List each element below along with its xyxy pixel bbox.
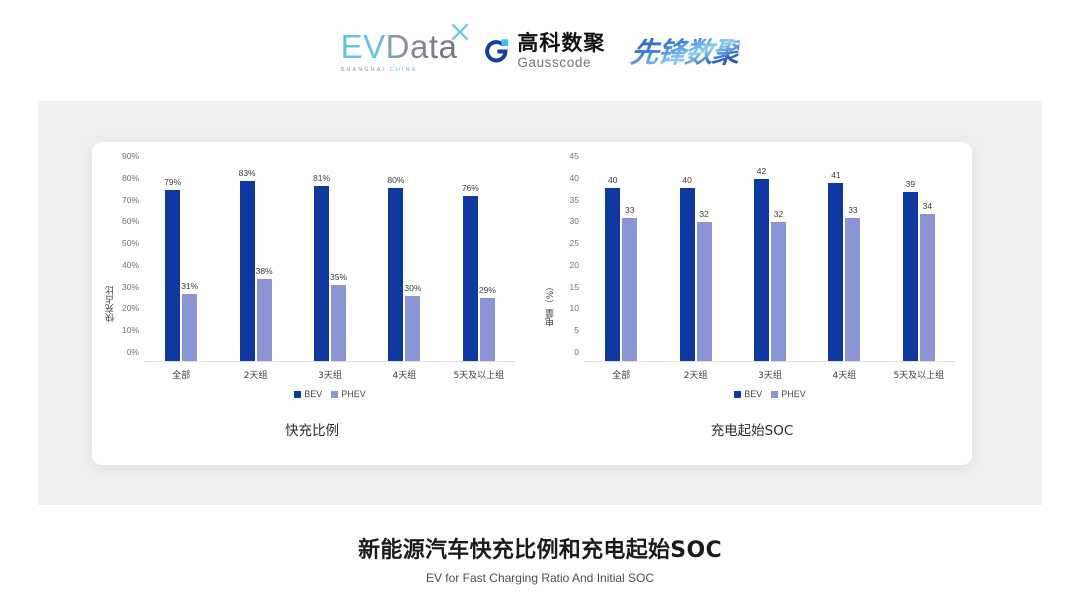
chart-initial-soc: 电量（%） 051015202530354045 403340324232413… <box>532 142 972 465</box>
legend-item-bev[interactable]: BEV <box>734 389 762 399</box>
bar-value-label: 42 <box>757 166 766 176</box>
y-axis-tick: 15 <box>570 282 579 292</box>
bar-bev[interactable]: 81% <box>314 186 329 362</box>
bar-group: 3934 <box>882 166 956 361</box>
bar-value-label: 31% <box>181 281 198 291</box>
bar-phev[interactable]: 32 <box>771 222 786 361</box>
xianfeng-logo: 先锋数聚 <box>629 31 741 71</box>
legend-item-bev[interactable]: BEV <box>294 389 322 399</box>
bar-value-label: 80% <box>387 175 404 185</box>
chart-legend: BEVPHEV <box>144 389 516 399</box>
y-axis-tick: 80% <box>122 173 139 183</box>
bar-bev[interactable]: 40 <box>680 188 695 361</box>
evdata-tagline-city: SHANGHAI <box>341 67 387 73</box>
bar-group: 79%31% <box>144 166 218 361</box>
x-axis-tick-label: 3天组 <box>733 368 807 381</box>
chart-title: 充电起始SOC <box>532 419 972 439</box>
bar-phev[interactable]: 33 <box>845 218 860 361</box>
bar-value-label: 76% <box>462 183 479 193</box>
bar-value-label: 79% <box>164 177 181 187</box>
bar-bev[interactable]: 40 <box>605 188 620 361</box>
y-axis-tick: 45 <box>570 151 579 161</box>
bar-value-label: 83% <box>239 168 256 178</box>
bar-value-label: 29% <box>479 285 496 295</box>
bar-value-label: 33 <box>848 205 857 215</box>
evdata-tagline-country: CHINA <box>390 67 418 73</box>
plot-area: 0%10%20%30%40%50%60%70%80%90% 79%31%83%3… <box>144 166 516 362</box>
x-axis-tick-label: 2天组 <box>658 368 732 381</box>
footer: 新能源汽车快充比例和充电起始SOC EV for Fast Charging R… <box>0 532 1080 585</box>
y-axis-label: 电量（%） <box>544 281 557 326</box>
y-axis-tick: 25 <box>570 238 579 248</box>
evdata-wordmark-ev: EV <box>341 28 386 65</box>
gausscode-name-cn: 高科数聚 <box>517 33 605 54</box>
gausscode-name-en: Gausscode <box>517 56 605 70</box>
evdata-wordmark-data: Data <box>386 28 458 65</box>
bar-bev[interactable]: 39 <box>903 192 918 361</box>
bar-phev[interactable]: 32 <box>697 222 712 361</box>
legend-swatch <box>771 391 778 398</box>
bar-value-label: 33 <box>625 205 634 215</box>
legend-label: BEV <box>304 389 322 399</box>
bar-value-label: 32 <box>774 209 783 219</box>
bar-group: 80%30% <box>367 166 441 361</box>
legend-swatch <box>734 391 741 398</box>
x-axis-tick-label: 4天组 <box>807 368 881 381</box>
bar-group: 4032 <box>658 166 732 361</box>
bar-phev[interactable]: 31% <box>182 294 197 361</box>
slide-page: EVData SHANGHAI CHINA 高科数聚 Gausscode 先锋数… <box>0 0 1080 608</box>
bar-groups: 40334032423241333934 <box>584 166 956 361</box>
x-axis-tick-label: 5天及以上组 <box>442 368 516 381</box>
bar-bev[interactable]: 42 <box>754 179 769 361</box>
y-axis-tick: 90% <box>122 151 139 161</box>
x-axis-tick-label: 全部 <box>584 368 658 381</box>
evdata-logo: EVData SHANGHAI CHINA <box>341 30 458 73</box>
legend-label: PHEV <box>781 389 806 399</box>
bar-group: 4232 <box>733 166 807 361</box>
bar-value-label: 34 <box>923 201 932 211</box>
gausscode-mark-icon <box>483 38 510 65</box>
y-axis-tick: 50% <box>122 238 139 248</box>
x-axis-tick-label: 2天组 <box>218 368 292 381</box>
bar-value-label: 40 <box>608 175 617 185</box>
chart-title: 快充比例 <box>92 419 532 439</box>
y-axis-tick: 5 <box>574 325 579 335</box>
y-axis-tick: 10% <box>122 325 139 335</box>
legend-swatch <box>294 391 301 398</box>
bar-bev[interactable]: 41 <box>828 183 843 361</box>
bar-phev[interactable]: 35% <box>331 285 346 361</box>
bar-phev[interactable]: 30% <box>405 296 420 361</box>
bar-group: 81%35% <box>293 166 367 361</box>
gausscode-logo: 高科数聚 Gausscode <box>483 33 605 70</box>
bar-group: 4133 <box>807 166 881 361</box>
y-axis-tick: 10 <box>570 303 579 313</box>
bar-bev[interactable]: 80% <box>388 188 403 361</box>
y-axis-tick: 20 <box>570 260 579 270</box>
legend-item-phev[interactable]: PHEV <box>331 389 366 399</box>
bar-value-label: 81% <box>313 173 330 183</box>
evdata-wordmark: EVData <box>341 30 458 63</box>
y-axis-tick: 70% <box>122 195 139 205</box>
bar-group: 4033 <box>584 166 658 361</box>
x-axis-labels: 全部2天组3天组4天组5天及以上组 <box>144 368 516 381</box>
y-axis-tick: 60% <box>122 216 139 226</box>
charts-container: 快充占比 0%10%20%30%40%50%60%70%80%90% 79%31… <box>92 142 972 465</box>
bar-phev[interactable]: 33 <box>622 218 637 361</box>
x-axis-labels: 全部2天组3天组4天组5天及以上组 <box>584 368 956 381</box>
y-axis-tick: 20% <box>122 303 139 313</box>
x-axis-tick-label: 4天组 <box>367 368 441 381</box>
bar-bev[interactable]: 76% <box>463 196 478 361</box>
legend-item-phev[interactable]: PHEV <box>771 389 806 399</box>
bar-group: 83%38% <box>218 166 292 361</box>
y-axis-tick: 30 <box>570 216 579 226</box>
evdata-tagline: SHANGHAI CHINA <box>341 67 418 73</box>
y-axis-tick: 40 <box>570 173 579 183</box>
bar-value-label: 32 <box>699 209 708 219</box>
bar-bev[interactable]: 79% <box>165 190 180 361</box>
y-axis-tick: 35 <box>570 195 579 205</box>
y-axis-tick: 0 <box>574 347 579 357</box>
chart-card: 快充占比 0%10%20%30%40%50%60%70%80%90% 79%31… <box>92 142 972 465</box>
bar-phev[interactable]: 34 <box>920 214 935 361</box>
footer-title-cn: 新能源汽车快充比例和充电起始SOC <box>0 532 1080 564</box>
x-axis-tick-label: 3天组 <box>293 368 367 381</box>
bar-value-label: 30% <box>404 283 421 293</box>
footer-title-en: EV for Fast Charging Ratio And Initial S… <box>0 571 1080 585</box>
plot-area: 051015202530354045 40334032423241333934 <box>584 166 956 362</box>
bar-bev[interactable]: 83% <box>240 181 255 361</box>
bar-phev[interactable]: 38% <box>257 279 272 361</box>
y-axis-tick: 30% <box>122 282 139 292</box>
bar-value-label: 40 <box>682 175 691 185</box>
legend-label: PHEV <box>341 389 366 399</box>
y-axis-tick: 40% <box>122 260 139 270</box>
x-cross-icon <box>450 22 470 42</box>
bar-groups: 79%31%83%38%81%35%80%30%76%29% <box>144 166 516 361</box>
x-axis-line <box>584 361 956 362</box>
bar-value-label: 38% <box>256 266 273 276</box>
x-axis-tick-label: 5天及以上组 <box>882 368 956 381</box>
y-axis-label: 快充占比 <box>104 286 117 322</box>
bar-group: 76%29% <box>442 166 516 361</box>
x-axis-line <box>144 361 516 362</box>
chart-legend: BEVPHEV <box>584 389 956 399</box>
legend-label: BEV <box>744 389 762 399</box>
legend-swatch <box>331 391 338 398</box>
bar-value-label: 35% <box>330 272 347 282</box>
x-axis-tick-label: 全部 <box>144 368 218 381</box>
bar-phev[interactable]: 29% <box>480 298 495 361</box>
bar-value-label: 39 <box>906 179 915 189</box>
logo-bar: EVData SHANGHAI CHINA 高科数聚 Gausscode 先锋数… <box>0 22 1080 80</box>
bar-value-label: 41 <box>831 170 840 180</box>
y-axis-tick: 0% <box>127 347 139 357</box>
chart-fast-charging-ratio: 快充占比 0%10%20%30%40%50%60%70%80%90% 79%31… <box>92 142 532 465</box>
